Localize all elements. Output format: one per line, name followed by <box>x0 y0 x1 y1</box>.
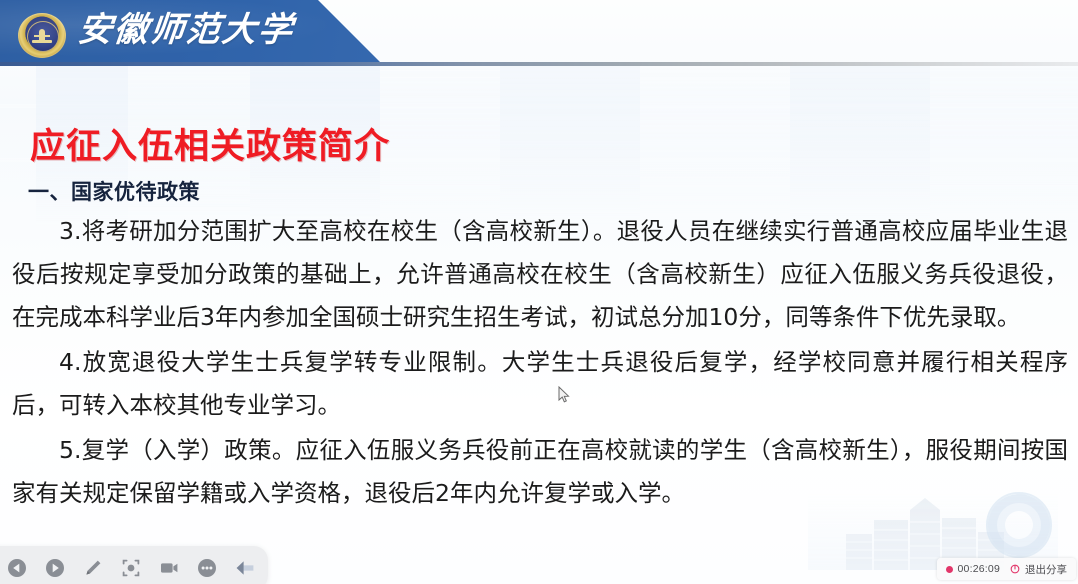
power-icon <box>1010 564 1020 574</box>
slide-header-banner: 安徽师范大学 <box>0 0 380 62</box>
laser-pointer-button[interactable] <box>120 557 142 579</box>
pen-tool-button[interactable] <box>82 557 104 579</box>
recording-indicator: 00:26:09 <box>946 563 1000 575</box>
university-name-text: 安徽师范大学 <box>75 6 296 54</box>
previous-icon <box>7 558 27 578</box>
screen-share-view: 安徽师范大学 应征入伍相关政策简介 一、国家优待政策 3.将考研加分范围扩大至高… <box>0 0 1078 584</box>
recording-dot-icon <box>946 566 953 573</box>
slide-paragraph-5: 5.复学（入学）政策。应征入伍服义务兵役前正在高校就读的学生（含高校新生），服役… <box>12 429 1068 515</box>
more-options-button[interactable] <box>196 557 218 579</box>
slide-subtitle: 一、国家优待政策 <box>28 176 200 206</box>
screen-record-button[interactable] <box>158 557 180 579</box>
camera-icon <box>159 558 179 578</box>
exit-share-button[interactable]: 退出分享 <box>1010 562 1067 577</box>
header-divider <box>0 62 1078 66</box>
back-arrow-icon <box>234 558 256 578</box>
previous-slide-button[interactable] <box>6 557 28 579</box>
slide-paragraph-4: 4.放宽退役大学生士兵复学转专业限制。大学生士兵退役后复学，经学校同意并履行相关… <box>12 341 1068 427</box>
presentation-slide: 安徽师范大学 应征入伍相关政策简介 一、国家优待政策 3.将考研加分范围扩大至高… <box>0 0 1078 584</box>
presentation-toolbar[interactable] <box>0 546 268 584</box>
more-dots-icon <box>197 558 217 578</box>
slide-body: 3.将考研加分范围扩大至高校在校生（含高校新生）。退役人员在继续实行普通高校应届… <box>12 210 1068 515</box>
slide-paragraph-3: 3.将考研加分范围扩大至高校在校生（含高校新生）。退役人员在继续实行普通高校应届… <box>12 210 1068 339</box>
next-slide-button[interactable] <box>44 557 66 579</box>
screen-share-status-bar[interactable]: 00:26:09 退出分享 <box>937 558 1076 580</box>
exit-share-label: 退出分享 <box>1025 562 1067 577</box>
recording-timer: 00:26:09 <box>958 563 1000 575</box>
next-icon <box>45 558 65 578</box>
pen-icon <box>83 558 103 578</box>
back-button[interactable] <box>234 557 256 579</box>
slide-title: 应征入伍相关政策简介 <box>30 118 390 169</box>
laser-pointer-icon <box>121 558 141 578</box>
university-emblem-icon <box>18 13 66 58</box>
